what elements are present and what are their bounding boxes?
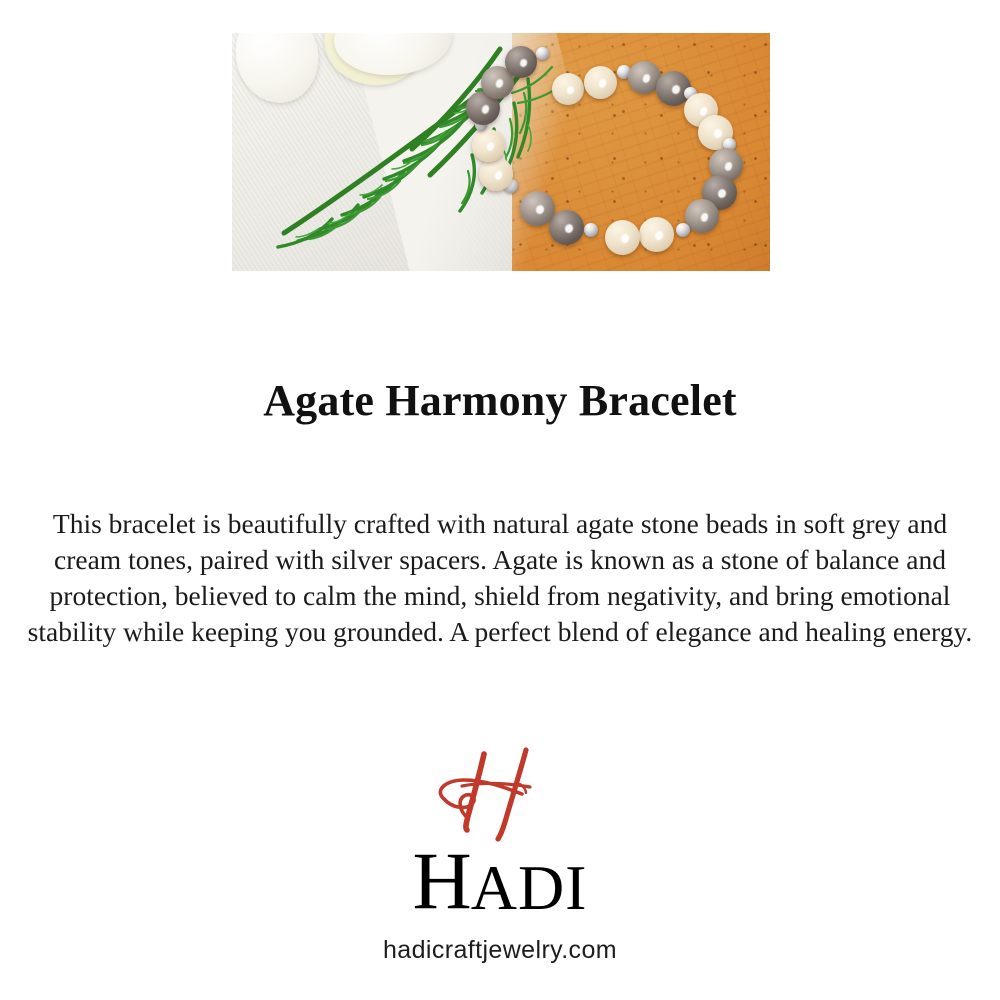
bead-highlight-icon [598, 78, 608, 89]
wordmark-rest: ADI [471, 856, 588, 920]
bead-highlight-icon [654, 230, 664, 241]
brand-wordmark: HADI [0, 848, 1000, 920]
bead-highlight-icon [564, 223, 574, 234]
bead-cream [479, 157, 513, 191]
bead-silver-spacer [536, 47, 549, 60]
product-image[interactable] [232, 33, 770, 271]
bead-highlight-icon [620, 233, 630, 244]
script-h-monogram-icon [410, 742, 590, 842]
bead-highlight-icon [723, 161, 733, 172]
bead-agate-grey [520, 191, 555, 226]
bead-cream [584, 66, 617, 99]
bead-highlight-icon [642, 73, 652, 84]
bead-highlight-icon [486, 141, 496, 152]
bead-highlight-icon [713, 128, 723, 139]
bead-cream [639, 217, 674, 252]
bead-highlight-icon [566, 85, 575, 95]
bead-highlight-icon [493, 170, 503, 181]
bead-cream [605, 220, 640, 255]
website-url[interactable]: hadicraftjewelry.com [0, 936, 1000, 965]
bead-highlight-icon [717, 188, 727, 199]
product-title: Agate Harmony Bracelet [0, 377, 1000, 425]
product-description: This bracelet is beautifully crafted wit… [22, 506, 978, 650]
bead-cream [472, 129, 505, 162]
bead-agate-grey [505, 46, 537, 78]
bead-silver-spacer [676, 223, 690, 237]
bead-agate-grey [549, 210, 584, 245]
bead-highlight-icon [480, 104, 490, 115]
bead-cream [552, 73, 584, 105]
bead-highlight-icon [495, 78, 505, 89]
bead-highlight-icon [671, 84, 681, 95]
wordmark-initial: H [413, 840, 471, 922]
product-photo-scene [232, 33, 770, 271]
agate-bracelet [232, 33, 770, 271]
product-card: Agate Harmony Bracelet This bracelet is … [0, 0, 1000, 1000]
bead-highlight-icon [519, 58, 528, 68]
brand-logo[interactable]: HADI hadicraftjewelry.com [0, 742, 1000, 965]
bead-silver-spacer [584, 223, 598, 237]
bead-highlight-icon [699, 212, 709, 223]
bead-agate-grey [685, 199, 719, 233]
bead-highlight-icon [535, 204, 545, 215]
bead-highlight-icon [698, 106, 708, 117]
